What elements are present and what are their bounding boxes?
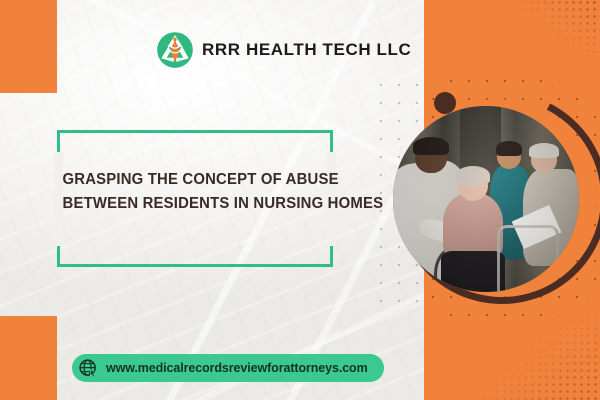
photo-scene [393,106,579,292]
halftone-dots-bottom-right [480,290,600,400]
page-title: GRASPING THE CONCEPT OF ABUSE BETWEEN RE… [63,168,328,216]
website-url-text: www.medicalrecordsreviewforattorneys.com [106,361,368,375]
photo-vignette [393,106,579,292]
halftone-dots-top-right [514,0,600,58]
orange-block-top-left [0,0,57,93]
hero-photo [393,106,579,292]
brand-logo-row[interactable]: RRR HEALTH TECH LLC [156,30,366,70]
page-title-line-2: BETWEEN RESIDENTS IN NURSING HOMES [63,192,328,216]
page-title-line-1: GRASPING THE CONCEPT OF ABUSE [63,168,328,192]
website-url-pill[interactable]: www.medicalrecordsreviewforattorneys.com [72,354,384,382]
poster-canvas: RRR HEALTH TECH LLC GRASPING THE CONCEPT… [0,0,600,400]
recycle-caduceus-logo-icon [156,31,194,69]
globe-cursor-icon [78,358,99,379]
brand-name: RRR HEALTH TECH LLC [202,40,411,60]
orange-block-bottom-left [0,316,57,400]
